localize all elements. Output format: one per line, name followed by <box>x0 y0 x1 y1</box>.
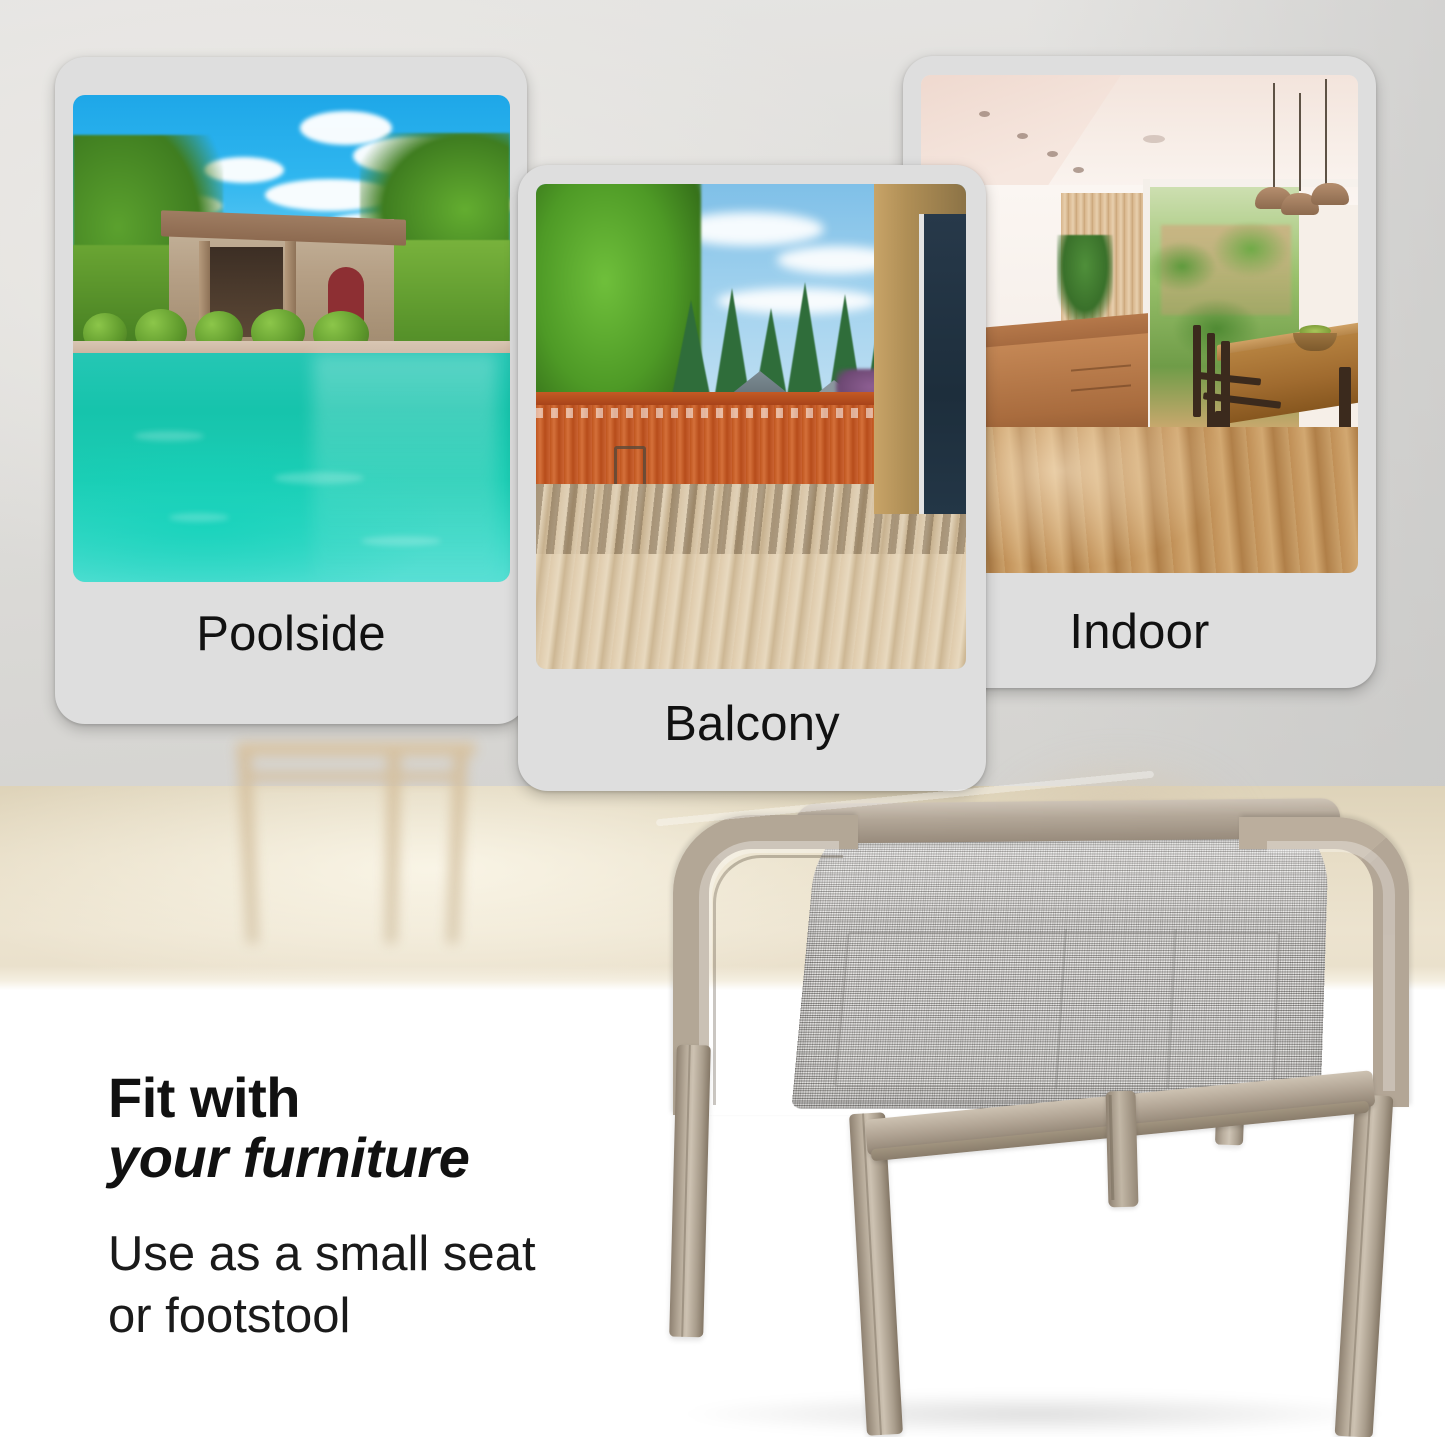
ottoman-contact-shadow <box>685 1393 1385 1435</box>
ottoman-arm-right-highlight <box>1267 841 1395 1091</box>
background-side-table <box>236 742 476 947</box>
headline-line-1: Fit with <box>108 1068 708 1127</box>
headline-line-2: your furniture <box>108 1127 708 1190</box>
indoor-photo <box>921 75 1358 573</box>
ottoman-arm-left-groove <box>713 855 843 1105</box>
subtext-line-2: or footstool <box>108 1286 708 1348</box>
ottoman-leg-back-right <box>1335 1094 1394 1437</box>
product-ottoman-footstool <box>655 795 1445 1435</box>
card-label-poolside: Poolside <box>55 610 527 659</box>
balcony-photo <box>536 184 966 669</box>
use-case-card-poolside[interactable]: Poolside <box>55 57 527 724</box>
marketing-copy-block: Fit with your furniture Use as a small s… <box>108 1068 708 1348</box>
use-case-card-balcony[interactable]: Balcony <box>518 165 986 791</box>
product-feature-image: Poolside <box>0 0 1445 1437</box>
subtext-line-1: Use as a small seat <box>108 1224 708 1286</box>
poolside-photo <box>73 95 510 582</box>
card-label-balcony: Balcony <box>518 700 986 749</box>
